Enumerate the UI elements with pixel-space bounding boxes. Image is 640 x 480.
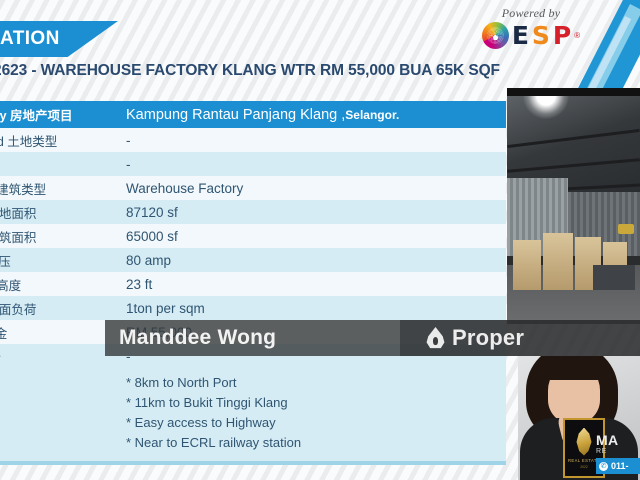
table-row: d 地面负荷 1ton per sqm [0,296,506,320]
agent-name: MA [596,432,640,448]
remark-value: * 8km to North Port * 11km to Bukit Ting… [112,373,506,454]
flame-droplet-icon [426,327,445,349]
banner-label: ATION [0,28,60,50]
row-label: a 土地面积 [0,203,112,222]
row-label: d 地面负荷 [0,299,112,318]
agent-phone-number: 011- [611,461,629,471]
brand-watermark-bar: Proper [400,320,640,356]
row-value: - [112,157,506,172]
registered-mark: ® [574,31,580,40]
badge-line-2: 2022 [580,465,588,469]
watermark-text: Proper [452,325,524,351]
gold-flame-icon [573,428,595,456]
photo-pallet [513,240,541,290]
esp-brand-logo: Powered by ESP® [466,6,596,49]
cam-fringe [546,360,602,380]
photo-pallet [543,233,573,290]
header-value-state: Selangor. [345,108,399,122]
table-bottom-rule [0,461,506,465]
photo-wall-sign [618,224,634,234]
row-label: 卖价 [0,347,112,366]
row-value: 23 ft [112,277,506,292]
esp-fingerprint-icon [482,22,509,49]
remark-line: * 8km to North Port [126,373,506,393]
presenter-name-overlay: Manddee Wong [105,320,400,356]
agent-lower-third: MA RE ✆ 011- [596,432,640,474]
row-value: 65000 sf [112,229,506,244]
row-label: a 建筑面积 [0,227,112,246]
row-label: 期 [0,155,112,174]
phone-icon: ✆ [599,462,608,471]
slide-canvas: ATION Powered by ESP® :2623 - WAREHOUSE … [0,0,640,480]
table-row: 期 - [0,152,506,176]
row-value: 87120 sf [112,205,506,220]
esp-letter-p: P [553,23,571,48]
agent-role: RE [596,448,640,455]
property-details-table: perty 房地产项目 Kampung Rantau Panjang Klang… [0,101,506,465]
table-row: a 土地面积 87120 sf [0,200,506,224]
table-row: Land 土地类型 - [0,128,506,152]
row-value: - [112,133,506,148]
table-remark-row: 注 * 8km to North Port * 11km to Bukit Ti… [0,368,506,461]
remark-line: * 11km to Bukit Tinggi Klang [126,393,506,413]
presenter-name: Manddee Wong [105,326,276,350]
row-label: y 电压 [0,251,112,270]
header-value-text: Kampung Rantau Panjang Klang , [126,107,345,123]
row-label: hts 高度 [0,275,112,294]
row-label: Land 土地类型 [0,131,112,150]
table-row: ing 建筑类型 Warehouse Factory [0,176,506,200]
row-label: ing 建筑类型 [0,179,112,198]
esp-logo-row: ESP® [466,22,596,49]
remark-line: * Near to ECRL railway station [126,433,506,453]
remark-label: 注 [0,373,112,416]
remark-line: * Easy access to Highway [126,413,506,433]
esp-letter-s: S [532,23,550,48]
table-row: a 建筑面积 65000 sf [0,224,506,248]
table-header-label: perty 房地产项目 [0,105,112,124]
listing-title: :2623 - WAREHOUSE FACTORY KLANG WTR RM 5… [0,62,528,80]
warehouse-interior-photo [507,96,640,324]
row-value: 80 amp [112,253,506,268]
agent-phone-bar[interactable]: ✆ 011- [596,458,640,474]
table-row: y 电压 80 amp [0,248,506,272]
section-banner: ATION [0,21,118,57]
photo-machinery [593,265,635,290]
table-header-row: perty 房地产项目 Kampung Rantau Panjang Klang… [0,101,506,128]
row-value: 1ton per sqm [112,301,506,316]
table-header-value: Kampung Rantau Panjang Klang ,Selangor. [112,107,506,123]
esp-letter-e: E [512,23,529,48]
photo-top-mask [507,88,640,96]
table-row: hts 高度 23 ft [0,272,506,296]
row-value: Warehouse Factory [112,181,506,196]
row-label: l 租金 [0,323,112,342]
powered-by-label: Powered by [466,6,596,21]
